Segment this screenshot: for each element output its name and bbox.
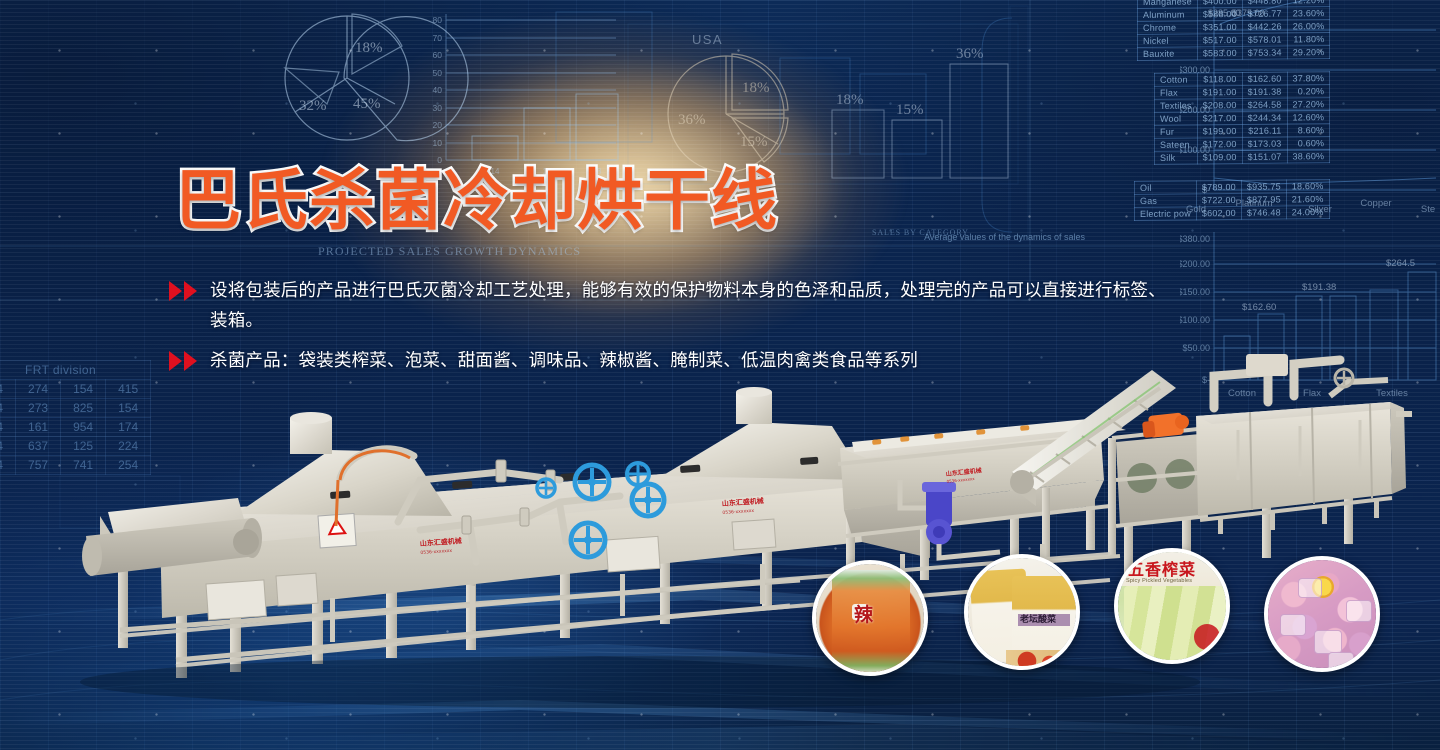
product-circle-pickled-vegetable-pack[interactable]: 老坛酸菜 (964, 554, 1080, 670)
product-circle-five-spice-mustard-pack[interactable]: 五香榨菜 Spicy Pickled Vegetables (1114, 548, 1230, 664)
bullet-text: 设将包装后的产品进行巴氏灭菌冷却工艺处理，能够有效的保护物料本身的色泽和品质，处… (210, 276, 1178, 336)
table-cell: Fur (1154, 125, 1197, 138)
table-row: Silk$109.00$151.0738.60% (1154, 150, 1329, 165)
table-cell: 29.20% (1287, 45, 1330, 58)
table-cell: 18.60% (1287, 179, 1330, 192)
table-cell: 21.60% (1287, 192, 1330, 205)
table-cell: $118.00 (1197, 73, 1242, 86)
double-arrow-icon (168, 350, 202, 372)
product-circle-assorted-candy-pack[interactable] (1264, 556, 1380, 672)
table-cell: 27.20% (1287, 98, 1330, 111)
table-cell: 11.80% (1287, 32, 1330, 45)
product-label: 辣 (854, 600, 873, 627)
table-cell: $264.58 (1242, 98, 1287, 111)
table-cell: Flax (1154, 86, 1197, 99)
table-cell: $151.07 (1242, 150, 1287, 163)
table-cell: $588.00 (1197, 7, 1242, 20)
drive-roller (233, 529, 259, 555)
table-cell: $208.00 (1197, 99, 1242, 112)
page-title: 巴氏杀菌冷却烘干线 (175, 168, 778, 234)
table-cell: $753.34 (1242, 46, 1287, 59)
table-cell: $191.00 (1197, 86, 1242, 99)
table-cell: $216.11 (1242, 124, 1287, 137)
table-cell: 37.80% (1287, 72, 1330, 85)
table-cell: $199.00 (1197, 125, 1242, 138)
caption-projected-sales: PROJECTED SALES GROWTH DYNAMICS (318, 244, 581, 259)
table-cell: $583.00 (1197, 46, 1242, 59)
table-cell: $217.00 (1197, 112, 1242, 125)
bullet-text: 杀菌产品：袋装类榨菜、泡菜、甜面酱、调味品、辣椒酱、腌制菜、低温肉禽类食品等系列 (210, 346, 918, 376)
table-cell: Chrome (1137, 21, 1197, 35)
table-cell: 8.60% (1287, 124, 1330, 137)
table-cell: Gas (1135, 194, 1197, 208)
bullet-list: 设将包装后的产品进行巴氏灭菌冷却工艺处理，能够有效的保护物料本身的色泽和品质，处… (168, 276, 1178, 386)
table-cell: $726.77 (1242, 7, 1287, 20)
table-row: Electric pow$602.00$746.4824.00% (1135, 205, 1330, 220)
table-cell: 26.00% (1287, 19, 1330, 32)
caption-average-values: Average values of the dynamics of sales (924, 232, 1085, 242)
table-cell: Bauxite (1137, 47, 1197, 61)
table-cell: 0.60% (1287, 137, 1330, 150)
table-cell: $722.00 (1197, 193, 1242, 206)
table-cell: 12.60% (1287, 111, 1330, 124)
table-cell: $191.38 (1242, 85, 1287, 98)
table-cell: Silk (1154, 151, 1197, 164)
product-circle-list: 辣 老坛酸菜 五香榨菜 Spicy Pickled Vegetables (812, 552, 1432, 682)
product-circle-spicy-snack-pack[interactable]: 辣 (812, 560, 928, 676)
table-cell: 24.00% (1287, 205, 1330, 218)
banner-root: 18% 32% 45% 01020 304050 607080 141618 (0, 0, 1440, 750)
table-cell: Oil (1135, 181, 1197, 195)
duct-box (1246, 354, 1288, 376)
table-cell: 38.60% (1287, 150, 1330, 163)
product-sublabel: Spicy Pickled Vegetables (1126, 578, 1192, 584)
table-cell: $173.03 (1242, 137, 1287, 150)
double-arrow-icon (168, 280, 202, 302)
table-cell: Nickel (1137, 34, 1197, 48)
table-cell: $602.00 (1197, 206, 1242, 219)
caption-usa: USA (692, 32, 723, 47)
table-cell: $935.75 (1242, 180, 1287, 193)
pump-motor (922, 482, 956, 545)
orange-motor (1142, 412, 1189, 437)
table-cell: Textiles (1154, 99, 1197, 112)
table-cell: $517.00 (1197, 33, 1242, 46)
table-cell: Sateen (1154, 138, 1197, 151)
table-cell: Cotton (1154, 73, 1197, 86)
table-cell: $172.00 (1197, 138, 1242, 151)
table-cell: 23.60% (1287, 6, 1330, 19)
product-label: 五香榨菜 (1128, 556, 1196, 580)
table-cell: $244.34 (1242, 111, 1287, 124)
table-cell: Electric pow (1135, 207, 1197, 221)
table-cell: $877.95 (1242, 193, 1287, 206)
product-label: 老坛酸菜 (1020, 612, 1056, 625)
table-cell: $578.01 (1242, 33, 1287, 46)
table-cell: $162.60 (1242, 72, 1287, 85)
table-cell: 0.20% (1287, 85, 1330, 98)
table-row: Bauxite$583.00$753.3429.20% (1137, 45, 1329, 60)
table-cell: $109.00 (1197, 151, 1242, 164)
table-cell: Aluminum (1137, 8, 1197, 22)
table-cell: $746.48 (1242, 206, 1287, 219)
bullet-item: 杀菌产品：袋装类榨菜、泡菜、甜面酱、调味品、辣椒酱、腌制菜、低温肉禽类食品等系列 (168, 346, 1178, 376)
table-cell: $351.00 (1197, 20, 1242, 33)
table-cell: Wool (1154, 112, 1197, 125)
table-cell: $442.26 (1242, 20, 1287, 33)
bullet-item: 设将包装后的产品进行巴氏灭菌冷却工艺处理，能够有效的保护物料本身的色泽和品质，处… (168, 276, 1178, 336)
table-cell: $789.00 (1197, 180, 1242, 193)
